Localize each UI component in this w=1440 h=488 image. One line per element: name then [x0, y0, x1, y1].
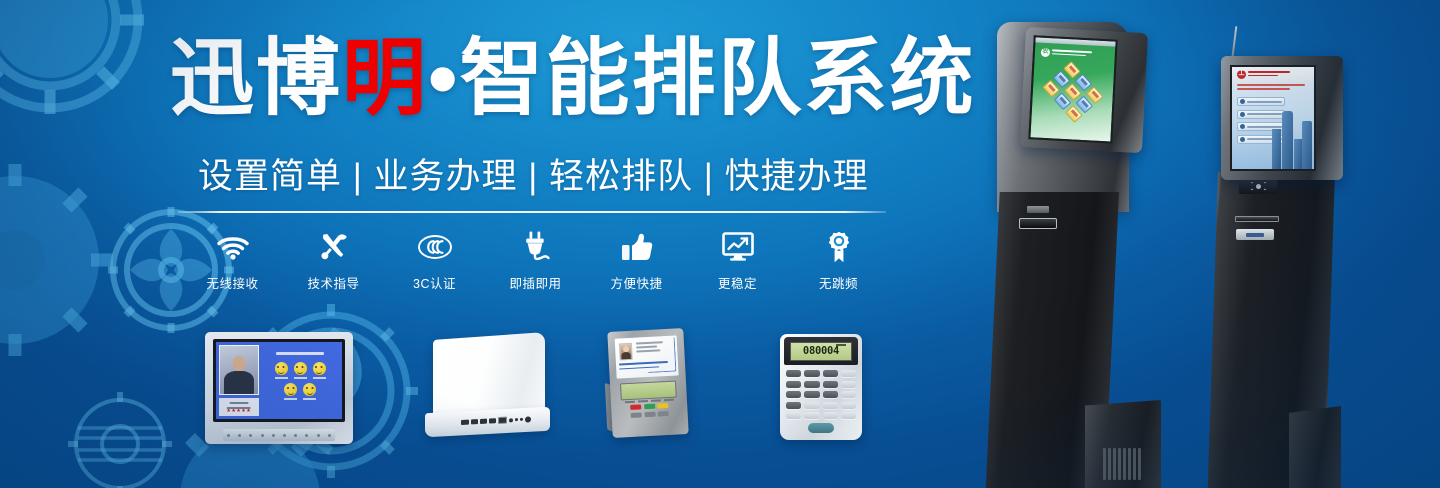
- kiosk-head: 农: [1020, 27, 1148, 153]
- kiosk-screen-content: 工: [1232, 67, 1314, 169]
- product-desk-evaluator: [604, 330, 690, 442]
- keypad-key[interactable]: [823, 402, 838, 409]
- keypad-key[interactable]: [786, 391, 801, 398]
- staff-photo: [219, 345, 259, 395]
- keypad-key[interactable]: [841, 381, 856, 388]
- card-footer-text: [619, 361, 676, 376]
- keypad-key[interactable]: [804, 381, 819, 388]
- product-showcase: ★★★★★: [0, 0, 1440, 488]
- keypad-key[interactable]: [804, 412, 819, 419]
- rating-stars: ★★★★★: [226, 408, 251, 414]
- evaluator-key[interactable]: [658, 411, 669, 417]
- screen-titlebar: [1035, 37, 1115, 46]
- keypad-key[interactable]: [823, 370, 838, 377]
- evaluator-body: [607, 328, 688, 438]
- kiosk-vents: [1103, 448, 1141, 480]
- keypad-key[interactable]: [841, 412, 856, 419]
- emoji-rating-option[interactable]: [294, 362, 307, 379]
- monitor-button[interactable]: [294, 434, 297, 437]
- product-kiosk-1: 农: [975, 22, 1165, 488]
- keypad-display-housing: 080004: [784, 337, 858, 365]
- keypad-key[interactable]: [804, 391, 819, 398]
- card-reader[interactable]: [1239, 178, 1277, 194]
- monitor-screen: ★★★★★: [216, 342, 342, 419]
- evaluator-key[interactable]: [644, 412, 655, 418]
- keypad-key[interactable]: [786, 412, 801, 419]
- keypad-key[interactable]: [823, 412, 838, 419]
- evaluator-key-dissatisfied[interactable]: [630, 404, 641, 410]
- monitor-button[interactable]: [328, 434, 331, 437]
- service-tile-grid: [1042, 61, 1103, 123]
- keypad-key[interactable]: [823, 381, 838, 388]
- kiosk-touchscreen[interactable]: 农: [1028, 35, 1117, 143]
- keypad-key[interactable]: [841, 370, 856, 377]
- evaluator-lcd: [620, 381, 677, 401]
- monitor-button[interactable]: [305, 434, 308, 437]
- monitor-button[interactable]: [227, 434, 230, 437]
- evaluator-keypad: [619, 402, 680, 421]
- monitor-frame: ★★★★★: [213, 339, 345, 422]
- screen-header: 工: [1232, 67, 1314, 83]
- monitor-button[interactable]: [261, 434, 264, 437]
- bank-logo: 工: [1237, 70, 1290, 79]
- kiosk-brand-plate: [1236, 229, 1274, 240]
- product-kiosk-2: 工: [1205, 26, 1370, 488]
- product-call-keypad: 080004: [780, 334, 862, 440]
- kiosk-screen-content: 农: [1030, 37, 1115, 141]
- evaluator-key-basic[interactable]: [657, 403, 668, 409]
- emoji-rating-option[interactable]: [275, 362, 288, 379]
- evaluation-prompt: [276, 352, 324, 355]
- emoji-rating-group: [262, 360, 339, 402]
- keypad-key[interactable]: [786, 381, 801, 388]
- bank-name-text: [1052, 50, 1092, 59]
- screen-notice: [1237, 84, 1309, 92]
- keypad-key[interactable]: [841, 391, 856, 398]
- kiosk-head: 工: [1221, 56, 1343, 180]
- keypad-key[interactable]: [786, 402, 801, 409]
- kiosk-brand-plate: [1027, 206, 1049, 213]
- keypad-lcd-number: 080004: [803, 345, 839, 357]
- product-monitor: ★★★★★: [205, 332, 353, 444]
- keypad-lcd: 080004: [790, 342, 852, 361]
- kiosk-base: [1289, 406, 1341, 488]
- staff-name-plate: ★★★★★: [219, 398, 259, 416]
- bank-name-text: [1248, 71, 1290, 78]
- emoji-rating-option[interactable]: [303, 383, 316, 400]
- monitor-button[interactable]: [283, 434, 286, 437]
- product-host-controller: [425, 336, 550, 440]
- bank-logo: 农: [1041, 48, 1092, 60]
- building-illustration: [1272, 95, 1312, 169]
- keypad-enter-button[interactable]: [808, 423, 834, 433]
- bank-logo-mark: 农: [1041, 48, 1050, 57]
- evaluator-key-satisfied[interactable]: [644, 404, 655, 410]
- evaluator-key[interactable]: [631, 412, 642, 418]
- promotional-banner: 迅博明•智能排队系统 设置简单 | 业务办理 | 轻松排队 | 快捷办理 无线接…: [0, 0, 1440, 488]
- monitor-button[interactable]: [238, 434, 241, 437]
- staff-info-panel: ★★★★★: [219, 345, 259, 416]
- emoji-rating-option[interactable]: [313, 362, 326, 379]
- lcd-indicator: [836, 344, 846, 346]
- ticket-dispenser-slot: [1235, 216, 1279, 222]
- keypad-key[interactable]: [804, 370, 819, 377]
- ticket-dispenser-slot: [1019, 218, 1057, 229]
- kiosk-touchscreen[interactable]: 工: [1230, 65, 1316, 171]
- monitor-button[interactable]: [317, 434, 320, 437]
- monitor-control-strip: [223, 429, 335, 441]
- staff-photo: [619, 343, 633, 361]
- evaluation-panel: [262, 345, 339, 416]
- keypad-key[interactable]: [804, 402, 819, 409]
- keypad-key[interactable]: [823, 391, 838, 398]
- keypad-key-grid: [786, 370, 856, 423]
- keypad-key[interactable]: [786, 370, 801, 377]
- staff-id-card: [615, 335, 679, 378]
- emoji-rating-option[interactable]: [284, 383, 297, 400]
- keypad-key[interactable]: [841, 402, 856, 409]
- bank-logo-mark: 工: [1237, 70, 1246, 79]
- monitor-button[interactable]: [272, 434, 275, 437]
- monitor-button[interactable]: [249, 434, 252, 437]
